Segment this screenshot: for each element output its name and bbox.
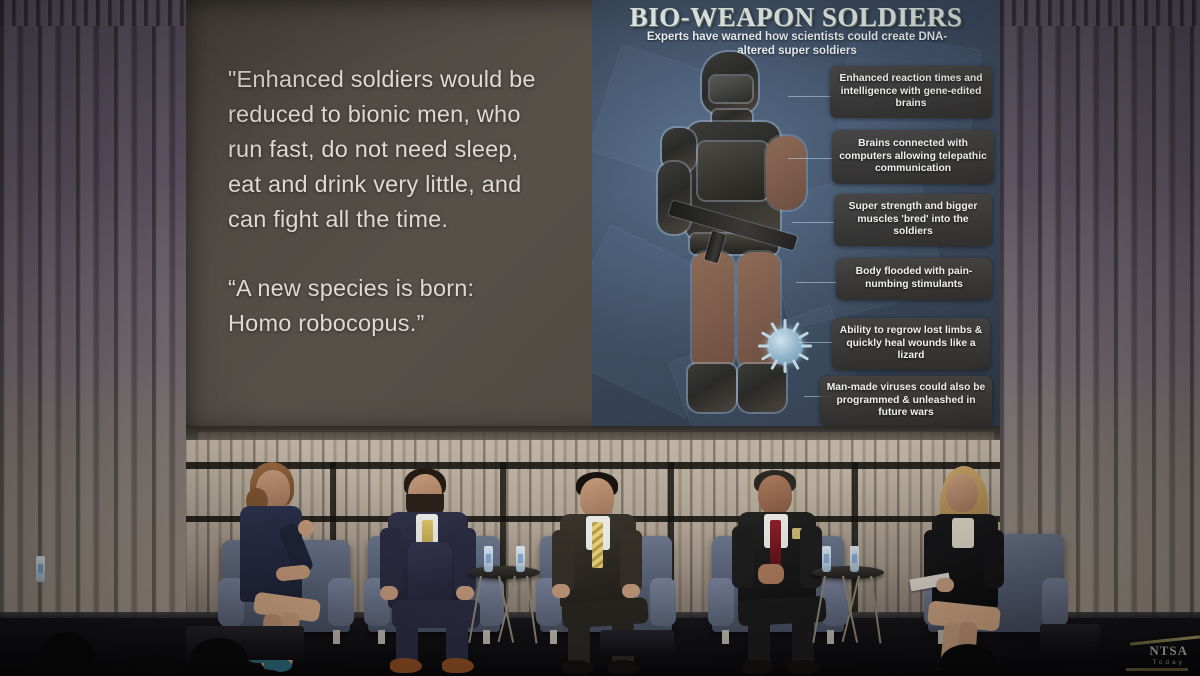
callout-text: Ability to regrow lost limbs & quickly h…: [838, 325, 984, 363]
watermark-subtitle: Today: [1149, 659, 1188, 666]
water-bottle-5: [36, 556, 45, 582]
head: [946, 474, 978, 512]
shoe-left: [390, 658, 422, 673]
quote-line: run fast, do not need sleep,: [228, 132, 568, 167]
audience-head-3: [128, 654, 184, 676]
audience-shoulders-1: [14, 664, 124, 676]
necktie-striped: [592, 522, 603, 568]
soldier-right-arm-muscle: [766, 136, 806, 210]
arm-left: [552, 530, 574, 592]
quote-line: reduced to bionic men, who: [228, 97, 568, 132]
shoe-left: [742, 660, 774, 674]
shoe-right: [608, 660, 640, 674]
soldier-chest-rig: [698, 142, 768, 200]
watermark-title: NTSA: [1149, 643, 1188, 659]
callout-box-2: Brains connected with computers allowing…: [832, 130, 994, 184]
blouse: [952, 518, 974, 548]
callout-connector-1: [788, 96, 832, 97]
shoe-right: [442, 658, 474, 673]
side-table-2: [812, 566, 884, 646]
projection-screen: "Enhanced soldiers would be reduced to b…: [186, 0, 1006, 432]
callout-box-5: Ability to regrow lost limbs & quickly h…: [832, 318, 990, 370]
callout-text: Brains connected with computers allowing…: [838, 138, 988, 176]
quote-line: can fight all the time.: [228, 202, 568, 237]
soldier-visor: [710, 76, 752, 102]
water-bottle-2: [516, 546, 525, 572]
callout-box-6: Man-made viruses could also be programme…: [820, 376, 992, 426]
arm-left: [732, 526, 754, 588]
callout-box-3: Super strength and bigger muscles 'bred'…: [834, 194, 992, 246]
slide-quote-block: "Enhanced soldiers would be reduced to b…: [228, 62, 568, 341]
quote-line: “A new species is born:: [228, 271, 568, 306]
soldier-left-arm: [658, 162, 690, 234]
quote-line: eat and drink very little, and: [228, 167, 568, 202]
hand-gesturing: [298, 520, 314, 536]
callout-text: Super strength and bigger muscles 'bred'…: [840, 201, 986, 239]
shoe-left: [562, 660, 594, 674]
bio-weapon-infographic: BIO-WEAPON SOLDIERS Experts have warned …: [592, 0, 1000, 430]
callout-connector-2: [788, 158, 836, 159]
callout-connector-5: [798, 342, 834, 343]
audience-shoulders-4: [912, 670, 1024, 676]
callout-text: Enhanced reaction times and intelligence…: [836, 73, 986, 111]
stage-monitor-wedge-3: [1040, 624, 1100, 654]
callout-text: Man-made viruses could also be programme…: [826, 382, 986, 420]
water-bottle-4: [850, 546, 859, 572]
hand-left: [380, 586, 398, 600]
hand-right: [622, 584, 640, 598]
hands-clasped: [758, 564, 784, 584]
water-bottle-1: [484, 546, 493, 572]
drape-header-left: [0, 0, 186, 26]
conference-stage-photo: "Enhanced soldiers would be reduced to b…: [0, 0, 1200, 676]
soldier-left-boot: [688, 364, 736, 412]
necktie-red: [770, 520, 781, 568]
virus-illustration: [757, 318, 813, 374]
head: [758, 475, 792, 515]
drape-header-right: [1000, 0, 1200, 26]
callout-text: Body flooded with pain-numbing stimulant…: [842, 266, 986, 291]
callout-box-1: Enhanced reaction times and intelligence…: [830, 66, 992, 118]
screen-bottom-edge: [186, 426, 1008, 440]
stage-monitor-wedge-2: [600, 630, 674, 656]
stage-drape-left: [0, 0, 186, 648]
watermark-bar: [1126, 668, 1188, 671]
quote-line: Homo robocopus.”: [228, 306, 568, 341]
moderator-woman-black-suit: [922, 466, 1042, 670]
ntsa-today-watermark: NTSA Today: [1149, 643, 1188, 666]
callout-box-4: Body flooded with pain-numbing stimulant…: [836, 258, 992, 300]
water-bottle-3: [822, 546, 831, 572]
infographic-title: BIO-WEAPON SOLDIERS: [592, 2, 1000, 33]
arm-right: [620, 530, 642, 592]
head: [580, 478, 614, 518]
arm-right: [984, 530, 1004, 588]
shoe-right: [788, 660, 820, 674]
waistcoat: [408, 542, 452, 602]
quote-line: "Enhanced soldiers would be: [228, 62, 568, 97]
soldier-left-leg: [692, 252, 734, 370]
callout-connector-3: [792, 222, 834, 223]
arm-lower: [275, 564, 310, 581]
callout-connector-4: [796, 282, 836, 283]
side-table-1: [468, 566, 540, 646]
hand-left: [552, 584, 570, 598]
arm-left: [380, 528, 402, 594]
hand-holding-notes: [936, 578, 954, 592]
